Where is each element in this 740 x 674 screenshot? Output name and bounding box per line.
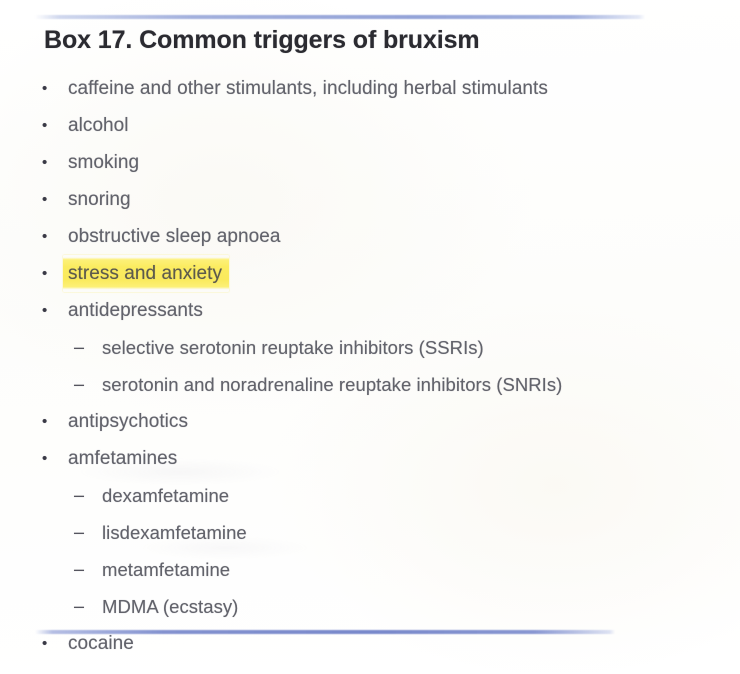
list-item: –lisdexamfetamine xyxy=(0,514,740,551)
bullet-icon: • xyxy=(42,403,47,440)
bullet-icon: • xyxy=(42,625,47,662)
list-item-label: cocaine xyxy=(68,625,134,662)
bullet-icon: • xyxy=(42,181,47,218)
list-item-label: smoking xyxy=(68,144,139,181)
list-item: •snoring xyxy=(0,181,740,218)
list-item: •smoking xyxy=(0,144,740,181)
bullet-icon: • xyxy=(42,144,47,181)
list-item-label: amfetamines xyxy=(68,440,177,477)
dash-icon: – xyxy=(74,514,84,551)
list-item-label: metamfetamine xyxy=(102,551,230,588)
bullet-icon: • xyxy=(42,292,47,329)
list-item-label: caffeine and other stimulants, including… xyxy=(68,70,548,107)
list-item: •stress and anxiety xyxy=(0,255,740,292)
list-item: –metamfetamine xyxy=(0,551,740,588)
bullet-icon: • xyxy=(42,218,47,255)
list-item-label: antidepressants xyxy=(68,292,203,329)
list-item-label: snoring xyxy=(68,181,131,218)
dash-icon: – xyxy=(74,477,84,514)
dash-icon: – xyxy=(74,366,84,403)
box-top-rule xyxy=(35,15,645,19)
list-item-label: selective serotonin reuptake inhibitors … xyxy=(102,329,484,366)
list-item: –serotonin and noradrenaline reuptake in… xyxy=(0,366,740,403)
list-item-label: lisdexamfetamine xyxy=(102,514,247,551)
list-item: •cocaine xyxy=(0,625,740,662)
dash-icon: – xyxy=(74,551,84,588)
dash-icon: – xyxy=(74,329,84,366)
bullet-icon: • xyxy=(42,70,47,107)
list-item-label: MDMA (ecstasy) xyxy=(102,588,238,625)
box-title: Box 17. Common triggers of bruxism xyxy=(44,26,480,55)
list-item-label: dexamfetamine xyxy=(102,477,229,514)
list-item: –dexamfetamine xyxy=(0,477,740,514)
list-item: –MDMA (ecstasy) xyxy=(0,588,740,625)
dash-icon: – xyxy=(74,588,84,625)
list-item: •antipsychotics xyxy=(0,403,740,440)
scanned-page: Box 17. Common triggers of bruxism •caff… xyxy=(0,0,740,674)
trigger-list: •caffeine and other stimulants, includin… xyxy=(0,70,740,662)
list-item-label: antipsychotics xyxy=(68,403,188,440)
list-item: •antidepressants xyxy=(0,292,740,329)
list-item-label: alcohol xyxy=(68,107,129,144)
list-item-label: obstructive sleep apnoea xyxy=(68,218,280,255)
list-item-label-highlighted: stress and anxiety xyxy=(63,255,229,292)
bullet-icon: • xyxy=(42,255,47,292)
list-item: •obstructive sleep apnoea xyxy=(0,218,740,255)
bullet-icon: • xyxy=(42,107,47,144)
bullet-icon: • xyxy=(42,440,47,477)
list-item: •alcohol xyxy=(0,107,740,144)
list-item: –selective serotonin reuptake inhibitors… xyxy=(0,329,740,366)
list-item: •amfetamines xyxy=(0,440,740,477)
list-item: •caffeine and other stimulants, includin… xyxy=(0,70,740,107)
list-item-label: serotonin and noradrenaline reuptake inh… xyxy=(102,366,562,403)
